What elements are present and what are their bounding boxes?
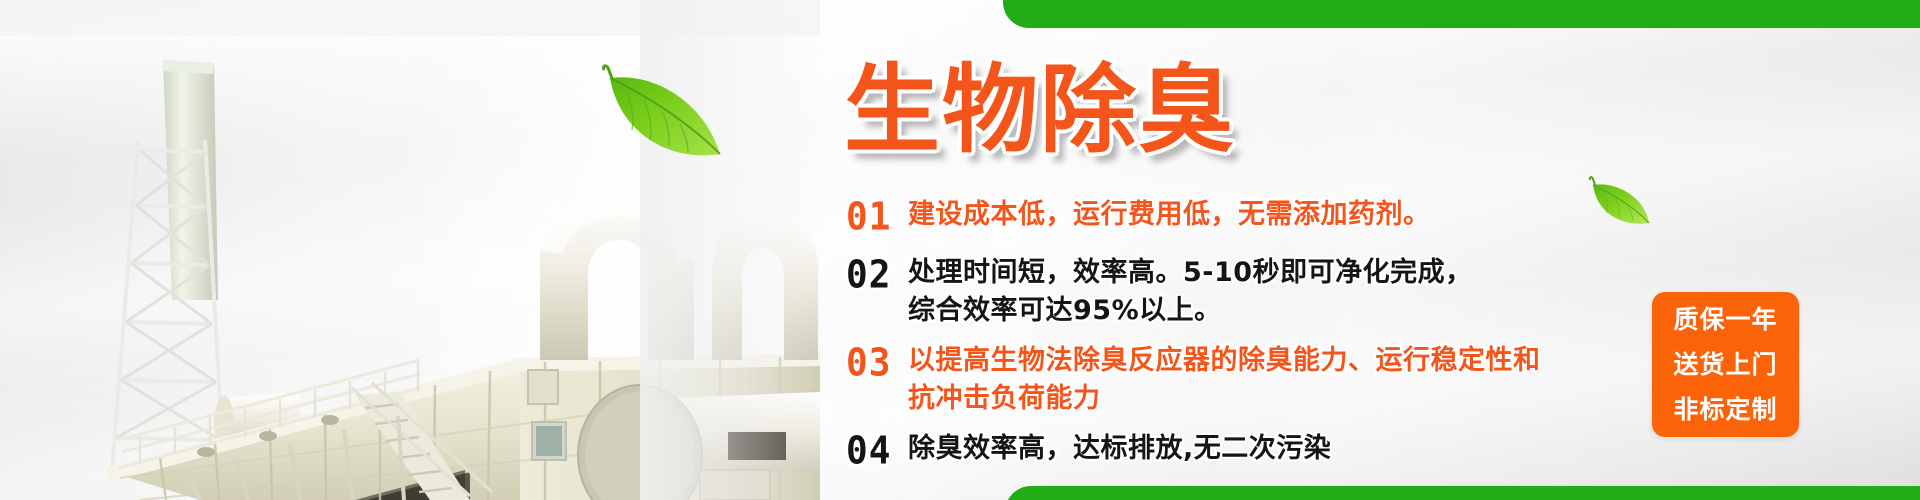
feature-number: 02 (846, 251, 912, 298)
feature-item-01: 01 建设成本低，运行费用低，无需添加药剂。 (846, 196, 1646, 238)
feature-text: 处理时间短，效率高。5-10秒即可净化完成， 综合效率可达95%以上。 (908, 254, 1646, 330)
feature-list: 01 建设成本低，运行费用低，无需添加药剂。 02 处理时间短，效率高。5-10… (846, 196, 1646, 476)
feature-number: 03 (846, 339, 912, 386)
badge-line-warranty: 质保一年 (1673, 297, 1777, 342)
badge-line-custom: 非标定制 (1673, 387, 1777, 432)
feature-item-04: 04 除臭效率高，达标排放,无二次污染 (846, 430, 1646, 472)
feature-number: 04 (846, 427, 912, 474)
badge-line-delivery: 送货上门 (1673, 342, 1777, 387)
promo-banner: 生物除臭 01 建设成本低，运行费用低，无需添加药剂。 02 处理时间短，效率高… (0, 0, 1920, 500)
feature-text: 以提高生物法除臭反应器的除臭能力、运行稳定性和 抗冲击负荷能力 (908, 342, 1646, 418)
green-accent-bar-bottom (1005, 486, 1920, 500)
green-accent-bar-top (1003, 0, 1920, 28)
feature-number: 01 (846, 193, 912, 240)
feature-text: 除臭效率高，达标排放,无二次污染 (908, 430, 1646, 468)
guarantee-badge: 质保一年 送货上门 非标定制 (1652, 292, 1799, 437)
feature-item-02: 02 处理时间短，效率高。5-10秒即可净化完成， 综合效率可达95%以上。 (846, 254, 1646, 330)
feature-text: 建设成本低，运行费用低，无需添加药剂。 (908, 196, 1646, 234)
feature-item-03: 03 以提高生物法除臭反应器的除臭能力、运行稳定性和 抗冲击负荷能力 (846, 342, 1646, 418)
page-title: 生物除臭 (844, 62, 1236, 158)
leaf-icon (592, 62, 724, 166)
